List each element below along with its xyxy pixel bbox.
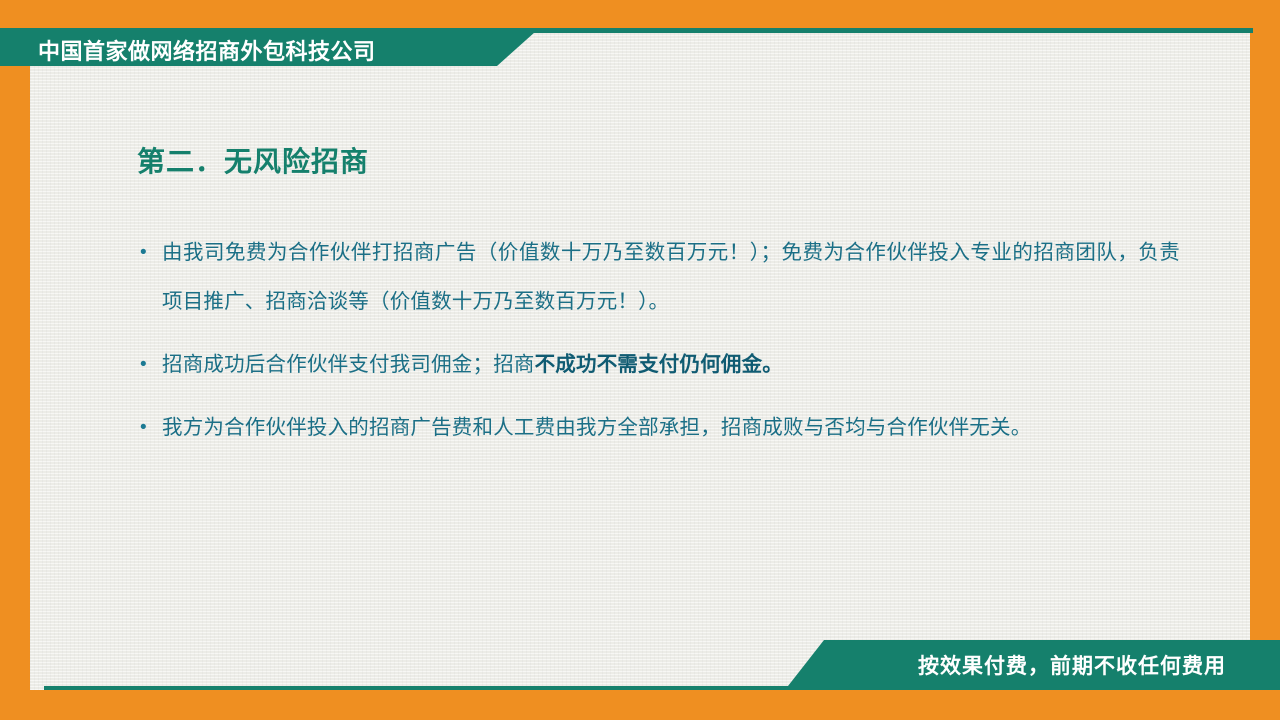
- bullet-marker-icon: •: [140, 340, 162, 389]
- bullet-marker-icon: •: [140, 228, 162, 277]
- list-item: • 招商成功后合作伙伴支付我司佣金；招商不成功不需支付仍何佣金。: [140, 340, 1180, 389]
- bullet-text-plain: 我方为合作伙伴投入的招商广告费和人工费由我方全部承担，招商成败与否均与合作伙伴无…: [162, 416, 1031, 439]
- bullet-marker-icon: •: [140, 403, 162, 452]
- top-banner-title: 中国首家做网络招商外包科技公司: [38, 34, 376, 66]
- bullet-text-emphasis: 不成功不需支付仍何佣金。: [535, 353, 783, 376]
- bullet-text: 招商成功后合作伙伴支付我司佣金；招商不成功不需支付仍何佣金。: [162, 340, 1180, 389]
- slide: 中国首家做网络招商外包科技公司 第二．无风险招商 • 由我司免费为合作伙伴打招商…: [0, 0, 1280, 720]
- bullet-text: 由我司免费为合作伙伴打招商广告（价值数十万乃至数百万元！）；免费为合作伙伴投入专…: [162, 228, 1180, 326]
- list-item: • 由我司免费为合作伙伴打招商广告（价值数十万乃至数百万元！）；免费为合作伙伴投…: [140, 228, 1180, 326]
- bullet-text-plain: 由我司免费为合作伙伴打招商广告（价值数十万乃至数百万元！）；免费为合作伙伴投入专…: [162, 241, 1180, 313]
- bullet-text: 我方为合作伙伴投入的招商广告费和人工费由我方全部承担，招商成败与否均与合作伙伴无…: [162, 403, 1180, 452]
- page-title: 第二．无风险招商: [137, 140, 369, 180]
- bullet-list: • 由我司免费为合作伙伴打招商广告（价值数十万乃至数百万元！）；免费为合作伙伴投…: [140, 228, 1180, 466]
- bullet-text-plain: 招商成功后合作伙伴支付我司佣金；招商: [162, 353, 535, 376]
- list-item: • 我方为合作伙伴投入的招商广告费和人工费由我方全部承担，招商成败与否均与合作伙…: [140, 403, 1180, 452]
- bottom-banner-text: 按效果付费，前期不收任何费用: [918, 650, 1226, 680]
